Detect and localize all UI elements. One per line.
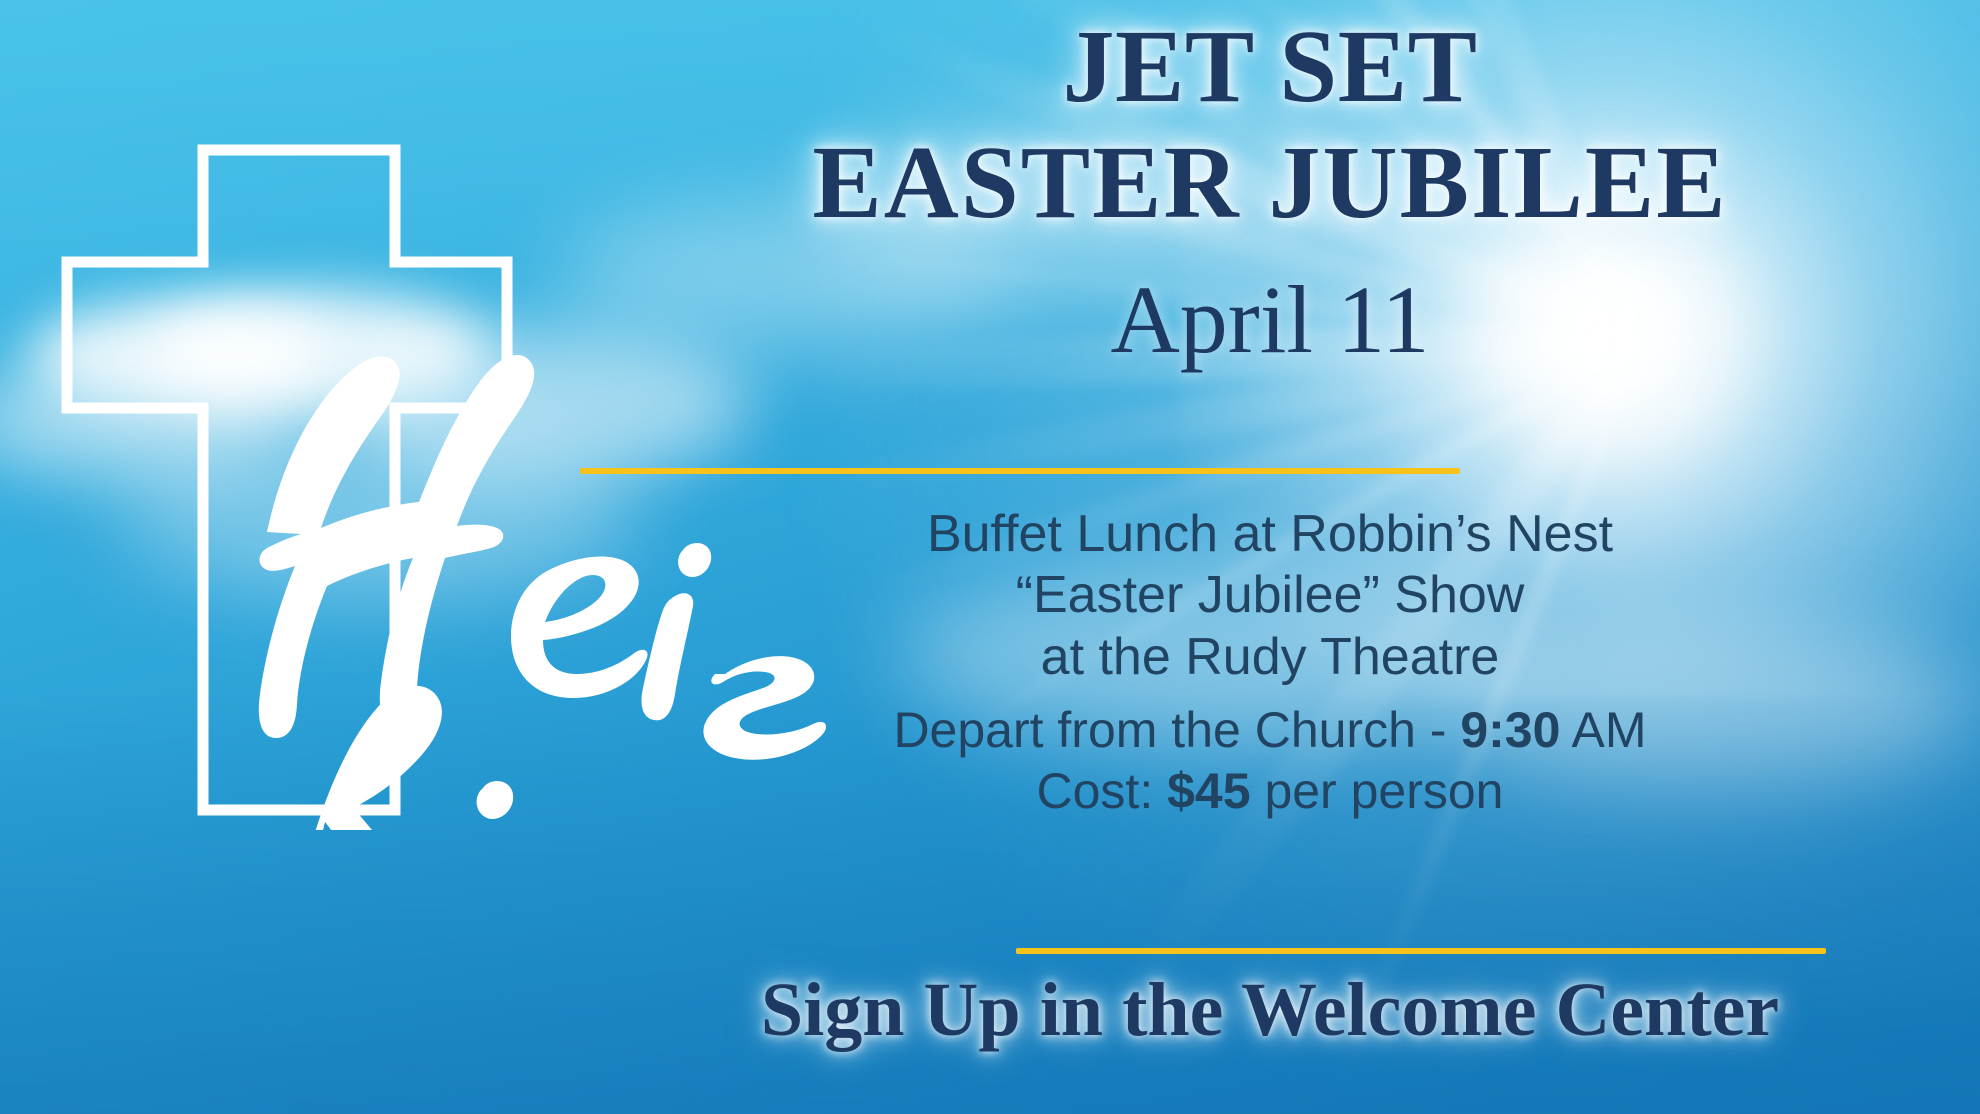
detail-line-show: “Easter Jubilee” Show xyxy=(560,565,1980,626)
depart-prefix: Depart from the Church - xyxy=(893,702,1460,758)
cost-prefix: Cost: xyxy=(1037,763,1168,819)
depart-suffix: AM xyxy=(1560,702,1646,758)
page-title-line-2: EASTER JUBILEE xyxy=(560,132,1980,234)
event-details-block: Buffet Lunch at Robbin’s Nest “Easter Ju… xyxy=(560,504,1980,688)
signup-call-to-action: Sign Up in the Welcome Center xyxy=(560,972,1980,1048)
cost-suffix: per person xyxy=(1251,763,1504,819)
detail-line-venue: at the Rudy Theatre xyxy=(560,627,1980,688)
easter-jubilee-flyer: JET SET EASTER JUBILEE April 11 Buffet L… xyxy=(0,0,1980,1114)
cost-line: Cost: $45 per person xyxy=(560,761,1980,822)
event-logistics-block: Depart from the Church - 9:30 AM Cost: $… xyxy=(560,700,1980,822)
divider-rule-top xyxy=(580,468,1460,474)
divider-rule-bottom xyxy=(1016,948,1826,954)
flyer-content-column: JET SET EASTER JUBILEE April 11 Buffet L… xyxy=(560,0,1980,1114)
cost-amount: $45 xyxy=(1167,763,1250,819)
depart-time: 9:30 xyxy=(1460,702,1560,758)
event-date: April 11 xyxy=(560,272,1980,368)
page-title-line-1: JET SET xyxy=(560,16,1980,118)
depart-line: Depart from the Church - 9:30 AM xyxy=(560,700,1980,761)
detail-line-lunch: Buffet Lunch at Robbin’s Nest xyxy=(560,504,1980,565)
